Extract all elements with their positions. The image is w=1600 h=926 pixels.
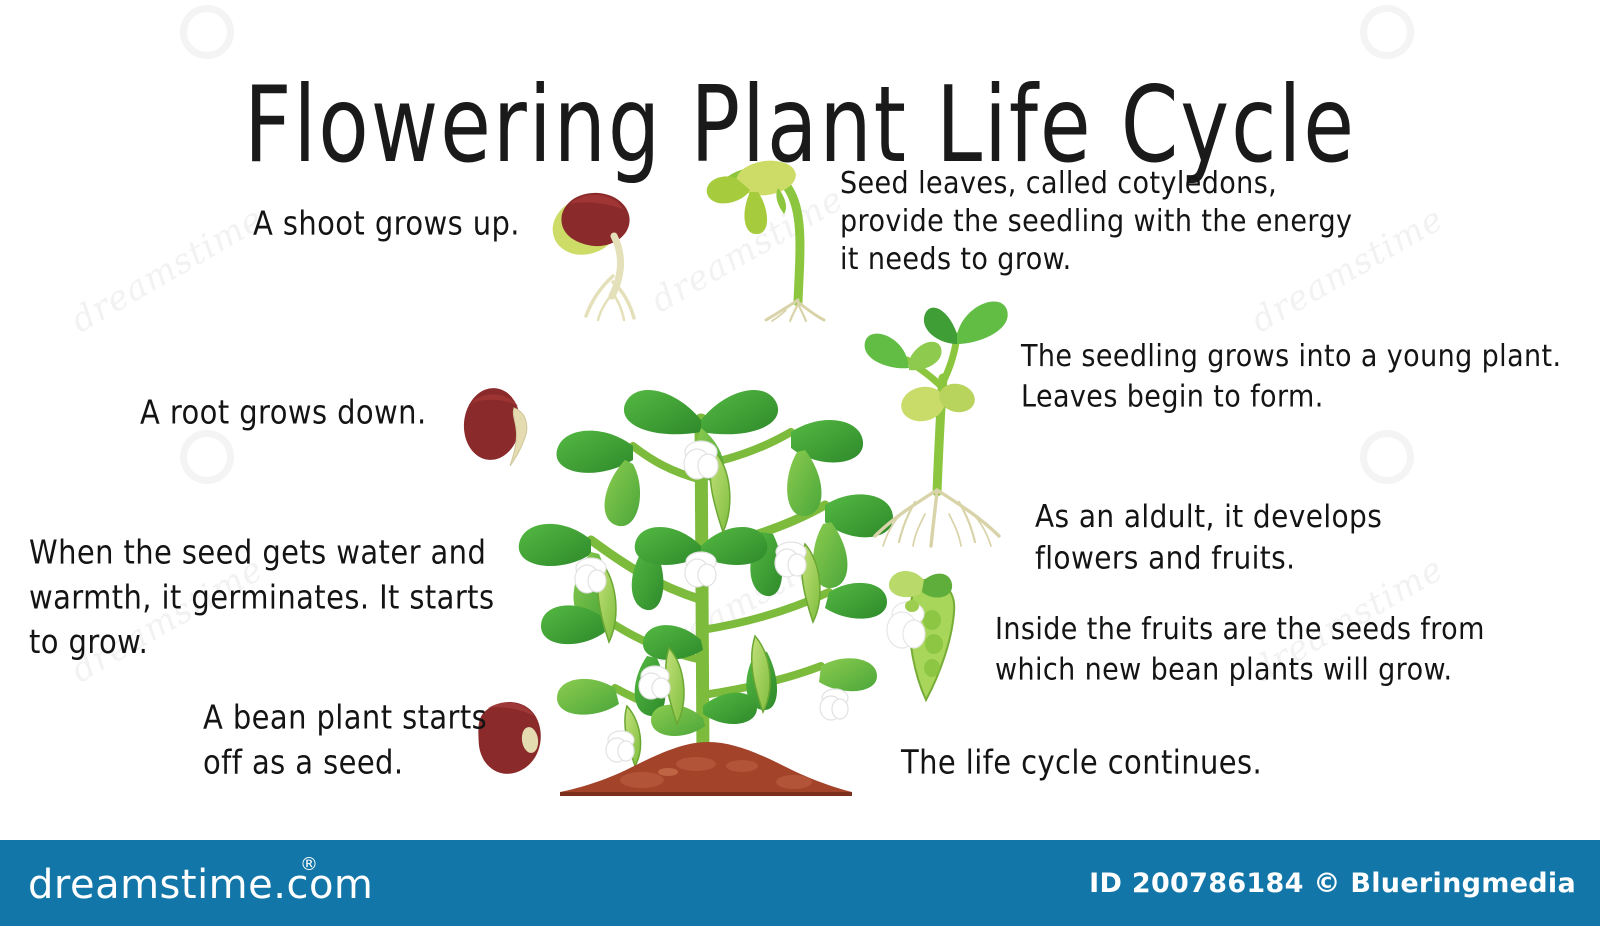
sprout-hooked-shoot-illustration — [692, 152, 832, 322]
mature-bean-plant-illustration — [505, 300, 905, 770]
registered-mark-icon: ® — [300, 854, 318, 875]
dreamstime-logo[interactable]: dreamstime.com — [28, 862, 373, 908]
caption-adult-flowers: As an aldult, it develops flowers and fr… — [1035, 497, 1382, 580]
bean-seed-with-root-illustration — [452, 378, 548, 474]
caption-fruits-seeds: Inside the fruits are the seeds from whi… — [995, 610, 1485, 690]
caption-starts-as-seed: A bean plant starts off as a seed. — [203, 695, 487, 785]
caption-seed-germinates: When the seed gets water and warmth, it … — [29, 530, 494, 664]
caption-root-grows-down: A root grows down. — [140, 392, 427, 434]
watermark-ring — [1360, 5, 1414, 59]
caption-cycle-continues: The life cycle continues. — [901, 742, 1262, 784]
watermark-ring — [180, 430, 234, 484]
caption-shoot-grows-up: A shoot grows up. — [253, 203, 520, 245]
poster-canvas: dreamstime dreamstime dreamstime dreamst… — [0, 0, 1600, 926]
caption-cotyledons: Seed leaves, called cotyledons, provide … — [840, 165, 1352, 278]
soil-mound-illustration — [556, 736, 856, 798]
bean-pod-with-flower-illustration — [868, 562, 978, 712]
watermark-ring — [180, 5, 234, 59]
footer-bar: dreamstime.com ® ID 200786184 © Bluering… — [0, 840, 1600, 926]
image-credit: ID 200786184 © Blueringmedia — [1089, 868, 1576, 899]
germinating-seed-illustration — [540, 178, 670, 323]
watermark-ring — [1360, 430, 1414, 484]
watermark-text: dreamstime — [64, 199, 270, 341]
young-seedling-illustration — [855, 282, 1015, 550]
caption-seedling-grows: The seedling grows into a young plant. L… — [1021, 337, 1562, 417]
